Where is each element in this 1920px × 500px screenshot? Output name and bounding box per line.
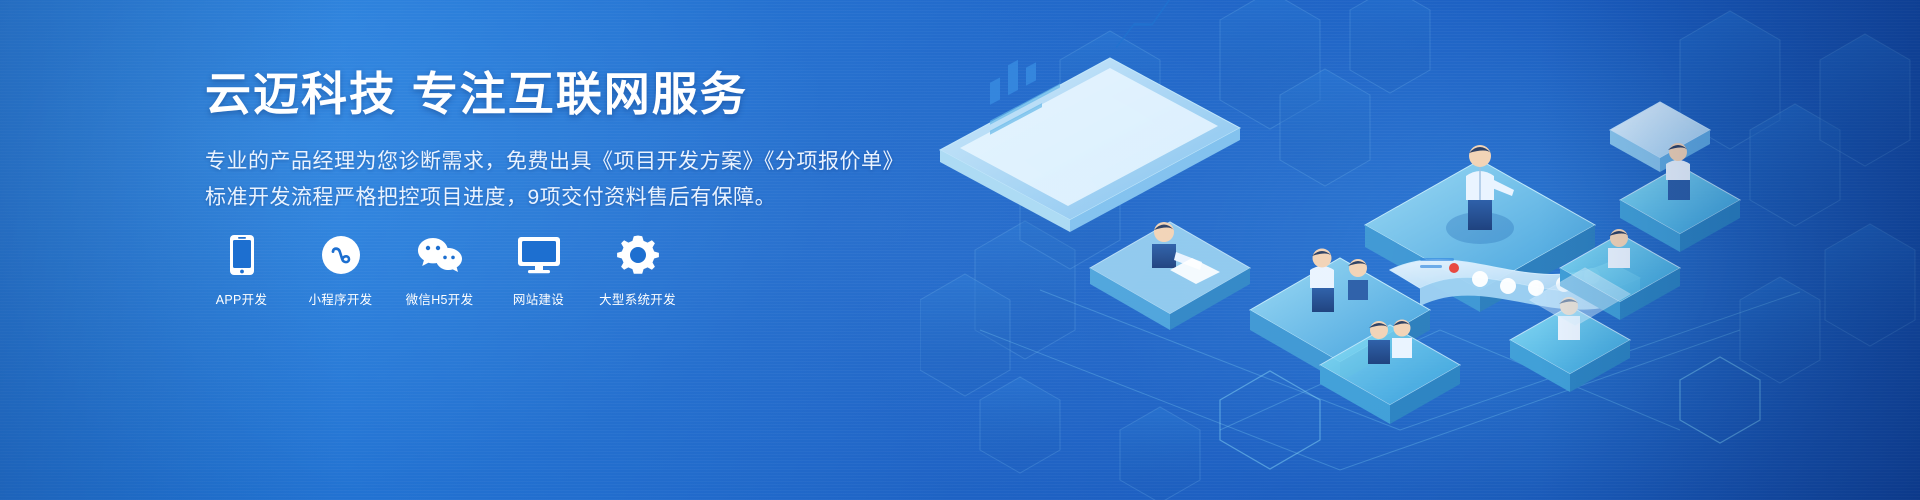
page-title: 云迈科技 专注互联网服务 (205, 66, 925, 124)
service-label: 大型系统开发 (599, 289, 676, 308)
service-list: APP开发 小程序开发 (205, 232, 674, 308)
service-item-wechat-h5[interactable]: 微信H5开发 (403, 232, 476, 308)
phone-icon (229, 232, 255, 278)
service-label: 小程序开发 (308, 289, 372, 308)
hero-copy: 云迈科技 专注互联网服务 专业的产品经理为您诊断需求，免费出具《项目开发方案》《… (205, 66, 925, 216)
monitor-icon (517, 232, 561, 278)
service-item-large-system[interactable]: 大型系统开发 (601, 232, 674, 308)
hero-banner: 云迈科技 专注互联网服务 专业的产品经理为您诊断需求，免费出具《项目开发方案》《… (0, 0, 1920, 500)
illustration-isometric-team-dashboard (920, 0, 1920, 500)
service-label: APP开发 (216, 289, 268, 308)
service-item-mini-program[interactable]: 小程序开发 (304, 232, 377, 308)
figure-right-upper (1666, 143, 1690, 200)
wechat-icon (417, 232, 463, 278)
subtitle-line-1: 专业的产品经理为您诊断需求，免费出具《项目开发方案》《分项报价单》 (205, 144, 925, 180)
figure-right-middle (1608, 229, 1630, 268)
mini-program-icon (321, 232, 361, 278)
subtitle-line-2: 标准开发流程严格把控项目进度，9项交付资料售后有保障。 (205, 180, 925, 216)
service-label: 网站建设 (513, 289, 564, 308)
service-label: 微信H5开发 (406, 289, 474, 308)
service-item-website[interactable]: 网站建设 (502, 232, 575, 308)
gear-icon (617, 232, 659, 278)
service-item-app[interactable]: APP开发 (205, 232, 278, 308)
